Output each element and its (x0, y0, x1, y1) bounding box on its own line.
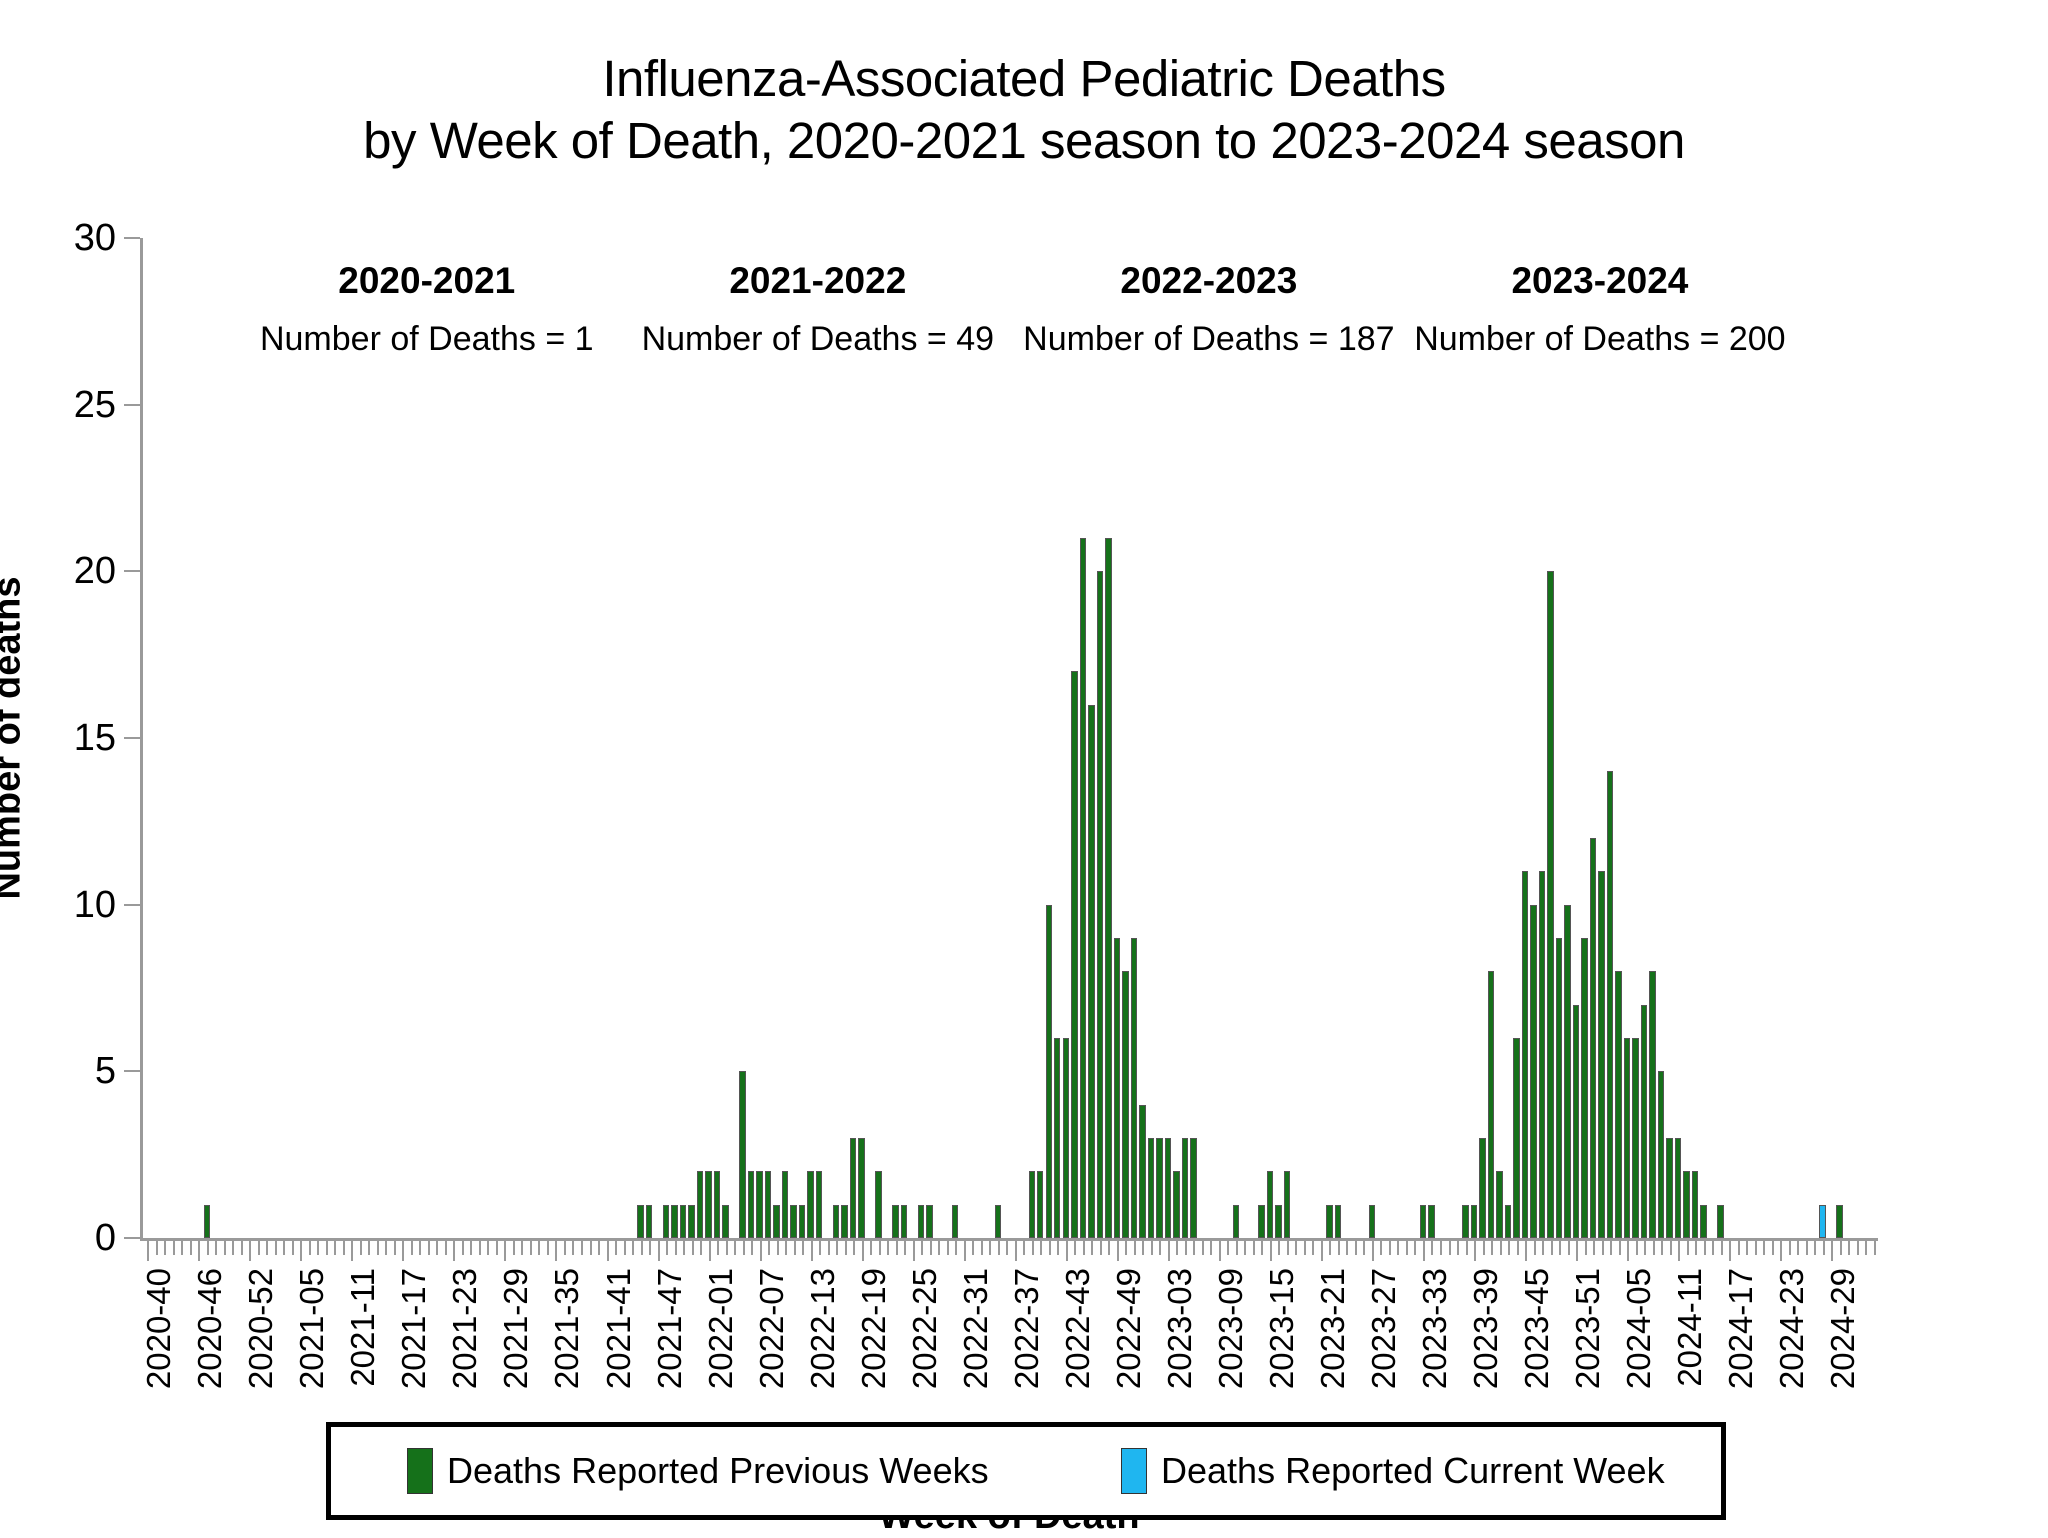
x-axis-minor-tick (802, 1241, 804, 1255)
bar (926, 1205, 932, 1238)
bar (1496, 1171, 1502, 1238)
bar (1522, 871, 1528, 1238)
page-title: Influenza-Associated Pediatric Deaths by… (0, 48, 2048, 172)
bar (705, 1171, 711, 1238)
y-axis-tick-label: 20 (16, 552, 116, 590)
x-axis-tick-label: 2021-23 (446, 1268, 484, 1389)
x-axis-major-tick (1117, 1241, 1119, 1261)
bar (1649, 971, 1655, 1238)
x-axis-minor-tick (1406, 1241, 1408, 1255)
bar (1029, 1171, 1035, 1238)
x-axis-major-tick (862, 1241, 864, 1261)
bar (1717, 1205, 1723, 1238)
x-axis-minor-tick (819, 1241, 821, 1255)
x-axis-minor-tick (1227, 1241, 1229, 1255)
bar (1131, 938, 1137, 1238)
bar (1097, 571, 1103, 1238)
x-axis-minor-tick (1772, 1241, 1774, 1255)
bar (748, 1171, 754, 1238)
x-axis-tick-label: 2020-46 (191, 1268, 229, 1389)
x-axis-minor-tick (1763, 1241, 1765, 1255)
x-axis-minor-tick (1253, 1241, 1255, 1255)
bar (1632, 1038, 1638, 1238)
y-axis-tick-label: 0 (16, 1219, 116, 1257)
x-axis-tick-label: 2023-45 (1518, 1268, 1556, 1389)
x-axis-minor-tick (1806, 1241, 1808, 1255)
bar (858, 1138, 864, 1238)
x-axis-major-tick (249, 1241, 251, 1261)
x-axis-tick-label: 2020-40 (140, 1268, 178, 1389)
bar (1581, 938, 1587, 1238)
x-axis-minor-tick (998, 1241, 1000, 1255)
bar (1590, 838, 1596, 1238)
x-axis-tick-label: 2023-15 (1263, 1268, 1301, 1389)
plot-area: Number of deaths 051015202530 2020-2021N… (140, 238, 1878, 1238)
y-axis-tick-label: 15 (16, 719, 116, 757)
x-axis-tick-label: 2020-52 (242, 1268, 280, 1389)
x-axis-tick-label: 2021-47 (651, 1268, 689, 1389)
x-axis-minor-tick (989, 1241, 991, 1255)
x-axis-major-tick (555, 1241, 557, 1261)
x-axis-minor-tick (538, 1241, 540, 1255)
x-axis-minor-tick (751, 1241, 753, 1255)
bar (1335, 1205, 1341, 1238)
x-axis-minor-tick (1695, 1241, 1697, 1255)
y-axis-tick-label: 5 (16, 1052, 116, 1090)
bar (1275, 1205, 1281, 1238)
x-axis-major-tick (1729, 1241, 1731, 1261)
x-axis-minor-tick (181, 1241, 183, 1255)
x-axis-minor-tick (521, 1241, 523, 1255)
x-axis-tick-label: 2023-21 (1314, 1268, 1352, 1389)
y-axis-tick (124, 237, 140, 239)
x-axis-minor-tick (207, 1241, 209, 1255)
x-axis-minor-tick (879, 1241, 881, 1255)
x-axis-minor-tick (1040, 1241, 1042, 1255)
x-axis-minor-tick (1083, 1241, 1085, 1255)
x-axis-minor-tick (1874, 1241, 1876, 1255)
x-axis-minor-tick (1049, 1241, 1051, 1255)
bar (1615, 971, 1621, 1238)
bar (1573, 1005, 1579, 1238)
x-axis-minor-tick (385, 1241, 387, 1255)
bar (1284, 1171, 1290, 1238)
x-axis-major-tick (1015, 1241, 1017, 1261)
x-axis-minor-tick (845, 1241, 847, 1255)
x-axis-minor-tick (292, 1241, 294, 1255)
x-axis-major-tick (300, 1241, 302, 1261)
bar (1054, 1038, 1060, 1238)
x-axis-minor-tick (1687, 1241, 1689, 1255)
bar (1182, 1138, 1188, 1238)
x-axis-minor-tick (947, 1241, 949, 1255)
legend-label-current-week: Deaths Reported Current Week (1161, 1450, 1665, 1492)
bar (1658, 1071, 1664, 1238)
x-axis-tick-label: 2024-23 (1773, 1268, 1811, 1389)
x-axis-minor-tick (445, 1241, 447, 1255)
x-axis-minor-tick (564, 1241, 566, 1255)
x-axis-minor-tick (1346, 1241, 1348, 1255)
bar (1692, 1171, 1698, 1238)
y-axis-tick (124, 1237, 140, 1239)
x-axis-minor-tick (904, 1241, 906, 1255)
x-axis-minor-tick (870, 1241, 872, 1255)
x-axis-minor-tick (794, 1241, 796, 1255)
x-axis-major-tick (1576, 1241, 1578, 1261)
x-axis-minor-tick (1840, 1241, 1842, 1255)
x-axis-major-tick (1372, 1241, 1374, 1261)
x-axis-minor-tick (1389, 1241, 1391, 1255)
chart-title-line-2: by Week of Death, 2020-2021 season to 20… (0, 110, 2048, 172)
x-axis-minor-tick (1797, 1241, 1799, 1255)
x-axis-minor-tick (896, 1241, 898, 1255)
x-axis-minor-tick (683, 1241, 685, 1255)
x-axis-major-tick (811, 1241, 813, 1261)
bar (1666, 1138, 1672, 1238)
x-axis-minor-tick (598, 1241, 600, 1255)
x-axis-minor-tick (1261, 1241, 1263, 1255)
x-axis-minor-tick (1312, 1241, 1314, 1255)
bar (722, 1205, 728, 1238)
bar (841, 1205, 847, 1238)
legend-swatch-previous-weeks (407, 1448, 433, 1494)
x-axis-tick-label: 2022-37 (1008, 1268, 1046, 1389)
bar (1462, 1205, 1468, 1238)
x-axis-minor-tick (785, 1241, 787, 1255)
x-axis-tick-label: 2023-03 (1161, 1268, 1199, 1389)
bar (1428, 1205, 1434, 1238)
x-axis-minor-tick (1644, 1241, 1646, 1255)
bar (807, 1171, 813, 1238)
x-axis-major-tick (402, 1241, 404, 1261)
x-axis-minor-tick (462, 1241, 464, 1255)
x-axis-major-tick (1678, 1241, 1680, 1261)
x-axis-minor-tick (572, 1241, 574, 1255)
x-axis-minor-tick (1338, 1241, 1340, 1255)
x-axis-minor-tick (258, 1241, 260, 1255)
x-axis-line (140, 1238, 1878, 1241)
x-axis-minor-tick (1712, 1241, 1714, 1255)
x-axis-minor-tick (1491, 1241, 1493, 1255)
x-axis-minor-tick (1278, 1241, 1280, 1255)
y-axis-tick-label: 10 (16, 886, 116, 924)
x-axis-tick-label: 2022-43 (1059, 1268, 1097, 1389)
x-axis-minor-tick (428, 1241, 430, 1255)
x-axis-minor-tick (309, 1241, 311, 1255)
x-axis-minor-tick (1449, 1241, 1451, 1255)
x-axis-minor-tick (275, 1241, 277, 1255)
x-axis-minor-tick (530, 1241, 532, 1255)
bar (1369, 1205, 1375, 1238)
bar (1233, 1205, 1239, 1238)
bar (637, 1205, 643, 1238)
x-axis-minor-tick (955, 1241, 957, 1255)
x-axis-tick-label: 2023-27 (1365, 1268, 1403, 1389)
bar (714, 1171, 720, 1238)
x-axis-minor-tick (1057, 1241, 1059, 1255)
x-axis-minor-tick (1814, 1241, 1816, 1255)
bar (816, 1171, 822, 1238)
bar (1071, 671, 1077, 1238)
x-axis-minor-tick (224, 1241, 226, 1255)
x-axis-minor-tick (1414, 1241, 1416, 1255)
bar (1530, 905, 1536, 1238)
x-axis-minor-tick (1738, 1241, 1740, 1255)
bar (1046, 905, 1052, 1238)
y-axis-tick (124, 904, 140, 906)
bar (1420, 1205, 1426, 1238)
x-axis-minor-tick (1457, 1241, 1459, 1255)
x-axis-minor-tick (1287, 1241, 1289, 1255)
x-axis-tick-label: 2023-33 (1416, 1268, 1454, 1389)
bar (1037, 1171, 1043, 1238)
x-axis-minor-tick (641, 1241, 643, 1255)
x-axis-minor-tick (1534, 1241, 1536, 1255)
bar (1148, 1138, 1154, 1238)
bar (1173, 1171, 1179, 1238)
x-axis-minor-tick (666, 1241, 668, 1255)
x-axis-minor-tick (828, 1241, 830, 1255)
x-axis-minor-tick (368, 1241, 370, 1255)
x-axis-minor-tick (156, 1241, 158, 1255)
x-axis-minor-tick (1142, 1241, 1144, 1255)
legend-entry-current-week: Deaths Reported Current Week (1121, 1448, 1665, 1494)
x-axis-minor-tick (717, 1241, 719, 1255)
x-axis-minor-tick (1593, 1241, 1595, 1255)
x-axis-minor-tick (419, 1241, 421, 1255)
x-axis-minor-tick (1517, 1241, 1519, 1255)
x-axis-minor-tick (1466, 1241, 1468, 1255)
x-axis-major-tick (351, 1241, 353, 1261)
bar (1471, 1205, 1477, 1238)
x-axis-minor-tick (1431, 1241, 1433, 1255)
x-axis-minor-tick (692, 1241, 694, 1255)
x-axis-major-tick (1270, 1241, 1272, 1261)
bar (1080, 538, 1086, 1238)
x-axis-minor-tick (887, 1241, 889, 1255)
x-axis-minor-tick (1619, 1241, 1621, 1255)
x-axis-major-tick (760, 1241, 762, 1261)
x-axis-minor-tick (700, 1241, 702, 1255)
x-axis-major-tick (913, 1241, 915, 1261)
x-axis-minor-tick (632, 1241, 634, 1255)
chart-title-line-1: Influenza-Associated Pediatric Deaths (0, 48, 2048, 110)
bar (739, 1071, 745, 1238)
x-axis-minor-tick (1159, 1241, 1161, 1255)
bar (671, 1205, 677, 1238)
bar (918, 1205, 924, 1238)
bar-series-container (143, 238, 1878, 1238)
bar (1156, 1138, 1162, 1238)
x-axis-major-tick (147, 1241, 149, 1261)
x-axis-minor-tick (581, 1241, 583, 1255)
bar (1105, 538, 1111, 1238)
bar (1139, 1105, 1145, 1238)
bar (1607, 771, 1613, 1238)
x-axis-minor-tick (1100, 1241, 1102, 1255)
x-axis-minor-tick (1610, 1241, 1612, 1255)
x-axis-minor-tick (1551, 1241, 1553, 1255)
bar (1564, 905, 1570, 1238)
bar (1513, 1038, 1519, 1238)
x-axis-minor-tick (190, 1241, 192, 1255)
x-axis-minor-tick (1789, 1241, 1791, 1255)
legend-swatch-current-week (1121, 1448, 1147, 1494)
bar (1165, 1138, 1171, 1238)
x-axis-major-tick (1066, 1241, 1068, 1261)
x-axis-tick-label: 2021-17 (395, 1268, 433, 1389)
x-axis-minor-tick (377, 1241, 379, 1255)
x-axis-minor-tick (232, 1241, 234, 1255)
x-axis-minor-tick (1023, 1241, 1025, 1255)
bar (892, 1205, 898, 1238)
bar (1088, 705, 1094, 1238)
x-axis-minor-tick (938, 1241, 940, 1255)
x-axis-minor-tick (1397, 1241, 1399, 1255)
x-axis-minor-tick (726, 1241, 728, 1255)
x-axis-minor-tick (487, 1241, 489, 1255)
x-axis-minor-tick (743, 1241, 745, 1255)
bar (995, 1205, 1001, 1238)
bar (1700, 1205, 1706, 1238)
x-axis-minor-tick (394, 1241, 396, 1255)
x-axis-major-tick (504, 1241, 506, 1261)
x-axis-major-tick (1780, 1241, 1782, 1261)
x-axis-tick-label: 2021-29 (497, 1268, 535, 1389)
x-axis-tick-label: 2021-35 (548, 1268, 586, 1389)
y-axis-tick-label: 25 (16, 386, 116, 424)
x-axis-minor-tick (479, 1241, 481, 1255)
x-axis-minor-tick (1236, 1241, 1238, 1255)
legend: Deaths Reported Previous Weeks Deaths Re… (326, 1422, 1726, 1520)
x-axis-minor-tick (972, 1241, 974, 1255)
x-axis-minor-tick (334, 1241, 336, 1255)
x-axis-minor-tick (836, 1241, 838, 1255)
y-axis-tick (124, 737, 140, 739)
x-axis-minor-tick (547, 1241, 549, 1255)
x-axis-minor-tick (1032, 1241, 1034, 1255)
x-axis-minor-tick (1661, 1241, 1663, 1255)
bar (765, 1171, 771, 1238)
x-axis-major-tick (1423, 1241, 1425, 1261)
x-axis-minor-tick (1653, 1241, 1655, 1255)
x-axis-tick-label: 2021-11 (344, 1268, 382, 1387)
bar (1641, 1005, 1647, 1238)
bar (1114, 938, 1120, 1238)
x-axis-minor-tick (513, 1241, 515, 1255)
x-axis-tick-label: 2022-25 (906, 1268, 944, 1389)
bar (1267, 1171, 1273, 1238)
x-axis-minor-tick (1746, 1241, 1748, 1255)
x-axis-tick-label: 2023-39 (1467, 1268, 1505, 1389)
x-axis-minor-tick (1304, 1241, 1306, 1255)
x-axis-minor-tick (1636, 1241, 1638, 1255)
x-axis-minor-tick (215, 1241, 217, 1255)
y-axis-tick (124, 404, 140, 406)
x-axis-minor-tick (1755, 1241, 1757, 1255)
bar (756, 1171, 762, 1238)
bar (952, 1205, 958, 1238)
bar (773, 1205, 779, 1238)
bar (646, 1205, 652, 1238)
bar (1326, 1205, 1332, 1238)
x-axis-minor-tick (496, 1241, 498, 1255)
bar (1063, 1038, 1069, 1238)
bar (1683, 1171, 1689, 1238)
x-axis-minor-tick (1857, 1241, 1859, 1255)
x-axis-minor-tick (853, 1241, 855, 1255)
bar (697, 1171, 703, 1238)
x-axis-minor-tick (1295, 1241, 1297, 1255)
x-axis-major-tick (1219, 1241, 1221, 1261)
x-axis-minor-tick (1244, 1241, 1246, 1255)
x-axis-minor-tick (1823, 1241, 1825, 1255)
x-axis-minor-tick (1585, 1241, 1587, 1255)
x-axis-minor-tick (173, 1241, 175, 1255)
x-axis-minor-tick (1721, 1241, 1723, 1255)
bar (1488, 971, 1494, 1238)
x-axis-tick-label: 2021-05 (293, 1268, 331, 1389)
x-axis-minor-tick (930, 1241, 932, 1255)
x-axis-tick-label: 2022-31 (957, 1268, 995, 1389)
x-axis-minor-tick (1568, 1241, 1570, 1255)
x-axis-minor-tick (649, 1241, 651, 1255)
x-axis-major-tick (198, 1241, 200, 1261)
x-axis-tick-label: 2022-49 (1110, 1268, 1148, 1389)
bar (1624, 1038, 1630, 1238)
legend-label-previous-weeks: Deaths Reported Previous Weeks (447, 1450, 989, 1492)
x-axis-minor-tick (1670, 1241, 1672, 1255)
bar (799, 1205, 805, 1238)
x-axis-tick-label: 2021-41 (600, 1268, 638, 1389)
bar (782, 1171, 788, 1238)
x-axis-minor-tick (1006, 1241, 1008, 1255)
bar (1122, 971, 1128, 1238)
x-axis-minor-tick (1176, 1241, 1178, 1255)
bar (1539, 871, 1545, 1238)
x-axis-minor-tick (1185, 1241, 1187, 1255)
x-axis-major-tick (1525, 1241, 1527, 1261)
bar (1479, 1138, 1485, 1238)
x-axis-minor-tick (1380, 1241, 1382, 1255)
x-axis-minor-tick (1848, 1241, 1850, 1255)
x-axis-minor-tick (777, 1241, 779, 1255)
x-axis-minor-tick (1602, 1241, 1604, 1255)
bar (901, 1205, 907, 1238)
x-axis-minor-tick (411, 1241, 413, 1255)
bar (1819, 1205, 1825, 1238)
x-axis-tick-label: 2022-13 (804, 1268, 842, 1389)
x-axis-minor-tick (1508, 1241, 1510, 1255)
x-axis-minor-tick (590, 1241, 592, 1255)
x-axis-major-tick (1474, 1241, 1476, 1261)
x-axis-minor-tick (1483, 1241, 1485, 1255)
x-axis-minor-tick (1542, 1241, 1544, 1255)
x-axis-major-tick (1831, 1241, 1833, 1261)
x-axis-minor-tick (241, 1241, 243, 1255)
x-axis-minor-tick (981, 1241, 983, 1255)
x-axis-minor-tick (1091, 1241, 1093, 1255)
x-axis-minor-tick (1125, 1241, 1127, 1255)
x-axis-minor-tick (1193, 1241, 1195, 1255)
bar (680, 1205, 686, 1238)
x-axis-minor-tick (283, 1241, 285, 1255)
bar (1190, 1138, 1196, 1238)
legend-entry-previous-weeks: Deaths Reported Previous Weeks (407, 1448, 989, 1494)
y-axis-tick (124, 1070, 140, 1072)
bar (1675, 1138, 1681, 1238)
x-axis-minor-tick (343, 1241, 345, 1255)
